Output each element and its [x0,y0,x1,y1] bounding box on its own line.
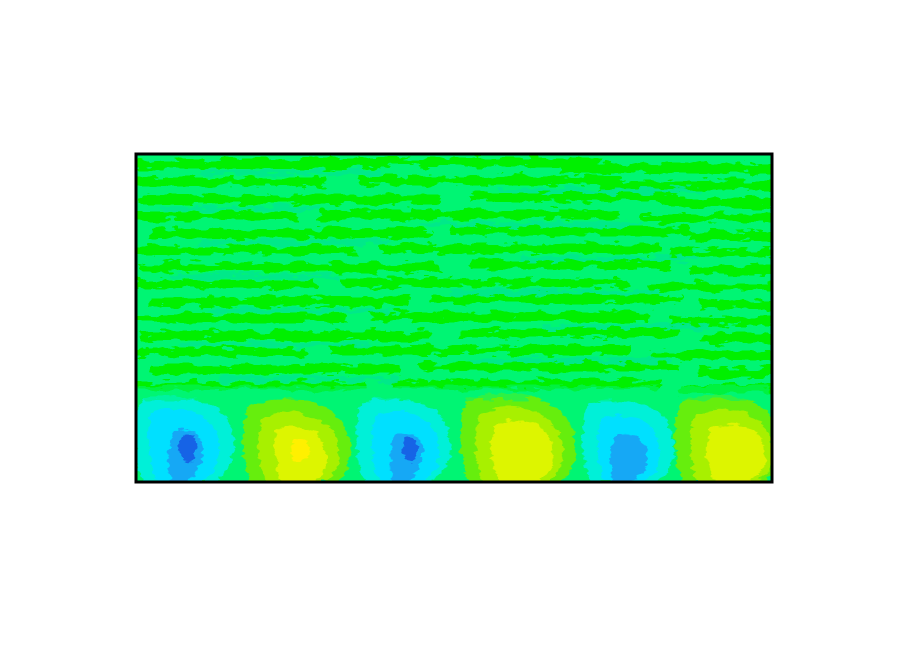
contour-plot [0,0,904,654]
contour-field [130,154,781,482]
figure-canvas [0,0,904,654]
